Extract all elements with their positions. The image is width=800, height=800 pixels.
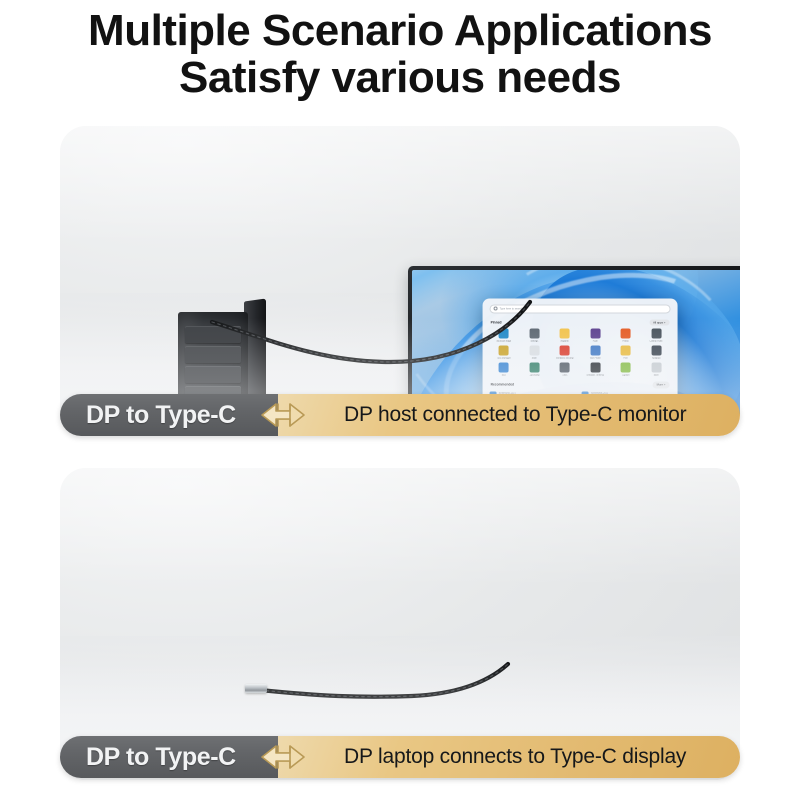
app-icon (651, 329, 661, 339)
app-icon (529, 363, 539, 373)
pinned-app[interactable]: Paint (581, 329, 609, 343)
scene-2-description: DP laptop connects to Type-C display (278, 736, 740, 778)
app-icon (651, 363, 661, 373)
start-search-placeholder: Type here to search (500, 307, 523, 310)
recommended-label: Recommended (491, 383, 515, 387)
scene-1-description: DP host connected to Type-C monitor (278, 394, 740, 436)
app-label: Your Phone (590, 357, 601, 360)
type-c-connector (245, 684, 267, 693)
pinned-app[interactable]: Capture (611, 363, 639, 377)
app-label: Clipchamp (529, 374, 539, 377)
app-label: Capture (622, 374, 630, 377)
app-icon (651, 346, 661, 356)
pinned-app[interactable]: Windows Security (551, 346, 579, 360)
app-icon (529, 329, 539, 339)
app-label: Explorer (561, 340, 569, 343)
app-label: Windows Security (556, 357, 573, 360)
app-icon (560, 363, 570, 373)
drive-bay (185, 326, 241, 343)
app-icon (499, 329, 509, 339)
pinned-app[interactable]: Settings (520, 329, 548, 343)
app-label: Paint (593, 340, 598, 343)
page-title-line-2: Satisfy various needs (0, 55, 800, 102)
app-label: Windows Terminal (586, 374, 604, 377)
app-icon (621, 363, 631, 373)
app-label: Firefox (622, 340, 629, 343)
app-label: Files (623, 357, 628, 360)
pinned-app[interactable]: Store (520, 346, 548, 360)
app-icon (499, 346, 509, 356)
app-label: More (654, 374, 659, 377)
app-label: Mail (502, 374, 506, 377)
pinned-app[interactable]: Mail (490, 363, 518, 377)
scene-2-description-label: DP laptop connects to Type-C display (344, 745, 686, 769)
pinned-app[interactable]: Notepad (642, 346, 670, 360)
all-apps-button[interactable]: All apps > (649, 319, 669, 325)
app-icon (621, 329, 631, 339)
app-label: Store (532, 357, 537, 360)
app-label: Links (562, 374, 567, 377)
app-icon (590, 329, 600, 339)
scene-2-panel: Windows 11 W (60, 468, 740, 780)
scene-1-badge: DP to Type-C (60, 394, 278, 436)
pinned-app[interactable]: Control Panel (642, 329, 670, 343)
pinned-app[interactable]: Clipchamp (520, 363, 548, 377)
pinned-app[interactable]: Links (551, 363, 579, 377)
pinned-app[interactable]: Explorer (551, 329, 579, 343)
drive-bay (185, 346, 241, 363)
pinned-header: Pinned All apps > (491, 319, 670, 325)
scene-2-caption: DP to Type-C DP laptop connects to Type-… (60, 736, 740, 778)
start-search-input[interactable]: Type here to search (490, 304, 671, 313)
scene-2-badge: DP to Type-C (60, 736, 278, 778)
page-title: Multiple Scenario Applications Satisfy v… (0, 8, 800, 101)
scene-1-description-label: DP host connected to Type-C monitor (344, 403, 686, 427)
recommended-header: Recommended More > (491, 382, 670, 388)
pinned-app[interactable]: Task Manager (490, 346, 518, 360)
app-icon (621, 346, 631, 356)
scene-1-panel: Type here to search Pinned All apps > Mi… (60, 126, 740, 436)
app-icon (590, 363, 600, 373)
app-icon (560, 346, 570, 356)
app-label: Microsoft Edge (497, 340, 512, 343)
app-label: Control Panel (650, 340, 663, 343)
pinned-app[interactable]: Firefox (611, 329, 639, 343)
app-icon (529, 346, 539, 356)
app-label: Task Manager (497, 357, 511, 360)
app-label: Notepad (652, 357, 660, 360)
scene-1-caption: DP to Type-C DP host connected to Type-C… (60, 394, 740, 436)
pinned-app[interactable]: More (642, 363, 670, 377)
bidirectional-arrow-icon (256, 742, 318, 772)
drive-bay (185, 366, 241, 383)
app-icon (590, 346, 600, 356)
pinned-app[interactable]: Windows Terminal (581, 363, 609, 377)
pinned-app[interactable]: Your Phone (581, 346, 609, 360)
app-icon (499, 363, 509, 373)
bidirectional-arrow-icon (256, 400, 318, 430)
app-label: Settings (530, 340, 538, 343)
pinned-label: Pinned (491, 320, 502, 324)
scene-2-badge-label: DP to Type-C (86, 743, 236, 772)
more-button[interactable]: More > (653, 382, 670, 388)
page-title-line-1: Multiple Scenario Applications (88, 6, 712, 55)
app-icon (560, 329, 570, 339)
pinned-app[interactable]: Microsoft Edge (490, 329, 518, 343)
search-icon (494, 307, 498, 311)
pinned-apps-grid: Microsoft EdgeSettingsExplorerPaintFiref… (490, 329, 671, 377)
pinned-app[interactable]: Files (611, 346, 639, 360)
scene-1-badge-label: DP to Type-C (86, 401, 236, 430)
